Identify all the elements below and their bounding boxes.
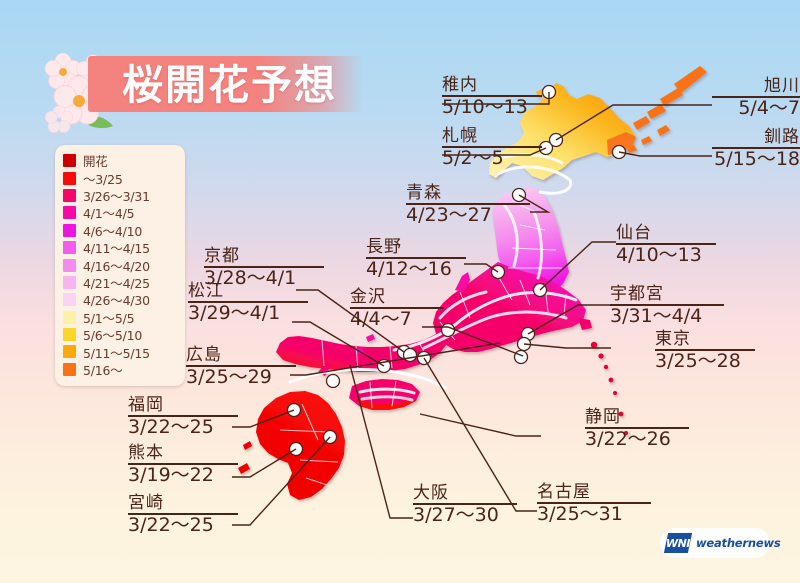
forecast-map-poster: 桜開花予想 開花～3/253/26～3/314/1～4/54/6～4/104/1…	[0, 0, 800, 583]
city-name: 稚内	[442, 76, 542, 95]
city-name: 長野	[366, 238, 466, 257]
bloom-date-range: 4/10～13	[616, 245, 716, 266]
city-name: 宇都宮	[610, 285, 724, 304]
bloom-date-range: 5/15～18	[712, 149, 800, 170]
bloom-date-range: 3/25～31	[537, 504, 651, 525]
city-name: 釧路	[712, 128, 800, 147]
city-name: 青森	[406, 184, 530, 203]
city-callout-8: 東京3/25～28	[655, 330, 755, 372]
bloom-date-range: 5/2～5	[442, 148, 542, 169]
city-callout-11: 松江3/29～4/1	[188, 282, 308, 324]
weathernews-logo[interactable]: WNI weathernews	[660, 528, 770, 558]
city-callout-15: 宮崎3/22～25	[128, 494, 238, 536]
city-callout-12: 広島3/25～29	[186, 346, 296, 388]
city-callout-2: 旭川5/4～7	[712, 77, 800, 119]
bloom-date-range: 4/23～27	[406, 205, 530, 226]
city-name: 名古屋	[537, 483, 651, 502]
bloom-date-range: 4/4～7	[350, 309, 444, 330]
city-name: 札幌	[442, 127, 542, 146]
city-name: 福岡	[128, 396, 238, 415]
bloom-date-range: 3/25～29	[186, 367, 296, 388]
city-callout-1: 札幌5/2～5	[442, 127, 542, 169]
bloom-date-range: 3/31～4/4	[610, 306, 724, 327]
city-name: 旭川	[712, 77, 800, 96]
city-name: 仙台	[616, 224, 716, 243]
bloom-date-range: 3/22～26	[585, 429, 689, 450]
bloom-date-range: 3/25～28	[655, 351, 755, 372]
city-name: 宮崎	[128, 494, 238, 513]
city-name: 金沢	[350, 288, 444, 307]
city-callout-0: 稚内5/10～13	[442, 76, 542, 118]
city-name: 静岡	[585, 408, 689, 427]
city-callout-16: 静岡3/22～26	[585, 408, 689, 450]
bloom-date-range: 5/10～13	[442, 97, 542, 118]
city-name: 熊本	[128, 444, 238, 463]
city-callout-10: 金沢4/4～7	[350, 288, 444, 330]
city-callout-7: 宇都宮3/31～4/4	[610, 285, 724, 327]
bloom-date-range: 3/19～22	[128, 465, 238, 486]
city-name: 大阪	[413, 484, 517, 503]
wni-logo-mark: WNI	[664, 533, 692, 553]
city-callout-4: 青森4/23～27	[406, 184, 530, 226]
bloom-date-range: 3/29～4/1	[188, 303, 308, 324]
bloom-date-range: 3/27～30	[413, 505, 517, 526]
bloom-date-range: 3/22～25	[128, 417, 238, 438]
city-name: 松江	[188, 282, 308, 301]
bloom-date-range: 4/12～16	[366, 259, 466, 280]
city-callout-3: 釧路5/15～18	[712, 128, 800, 170]
city-callout-5: 仙台4/10～13	[616, 224, 716, 266]
city-name: 東京	[655, 330, 755, 349]
city-name: 京都	[204, 247, 324, 266]
city-callout-13: 福岡3/22～25	[128, 396, 238, 438]
weathernews-wordmark: weathernews	[696, 536, 781, 550]
city-callout-18: 大阪3/27～30	[413, 484, 517, 526]
city-callout-6: 長野4/12～16	[366, 238, 466, 280]
city-callout-14: 熊本3/19～22	[128, 444, 238, 486]
bloom-date-range: 5/4～7	[712, 98, 800, 119]
city-name: 広島	[186, 346, 296, 365]
bloom-date-range: 3/22～25	[128, 515, 238, 536]
city-callout-17: 名古屋3/25～31	[537, 483, 651, 525]
